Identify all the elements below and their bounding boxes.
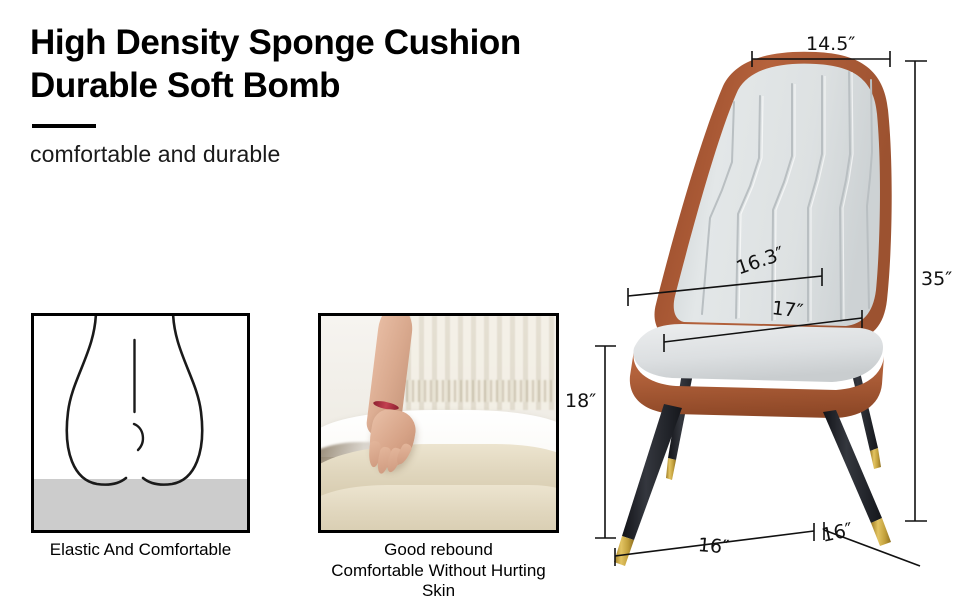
elastic-panel-caption: Elastic And Comfortable (31, 540, 250, 561)
dining-chair-illustration (560, 18, 970, 583)
dimension-label-base-depth: 16″ (697, 534, 730, 559)
seat-cushion (633, 324, 883, 382)
foam-layer-lower (318, 485, 559, 533)
dimension-label-total-height: 35″ (921, 268, 952, 290)
infographic-page: High Density Sponge Cushion Durable Soft… (0, 0, 970, 600)
chair-dimension-diagram (560, 18, 970, 583)
dimension-label-back-width: 14.5″ (806, 33, 855, 55)
dimension-label-seat-width: 17″ (771, 297, 805, 323)
dimension-label-leg-height: 18″ (565, 390, 596, 412)
title-divider (32, 124, 96, 128)
photo-curtain-hem (406, 380, 556, 401)
feature-panel-elastic: Elastic And Comfortable (31, 313, 250, 561)
feature-panel-rebound: Good rebound Comfortable Without Hurting… (318, 313, 559, 602)
chair-front-legs (614, 404, 891, 566)
seated-figure-line-drawing-icon (34, 316, 247, 530)
rebound-photo-box (318, 313, 559, 533)
rebound-panel-caption: Good rebound Comfortable Without Hurting… (318, 540, 559, 602)
elastic-illustration-box (31, 313, 250, 533)
foam-photo (321, 316, 556, 530)
